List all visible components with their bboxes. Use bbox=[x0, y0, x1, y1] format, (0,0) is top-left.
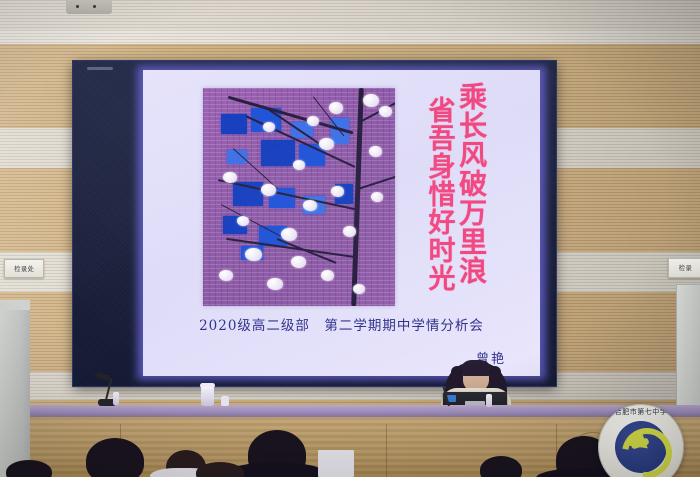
slide-photo-magnolia bbox=[203, 88, 395, 306]
right-wall-board bbox=[676, 284, 700, 406]
desk-panel-seam bbox=[386, 424, 387, 477]
magnolia-blossom bbox=[291, 256, 306, 268]
presenter-hair-top bbox=[460, 360, 492, 376]
magnolia-blossom bbox=[329, 102, 343, 114]
couplet-right-column: 乘长风破万里浪 bbox=[457, 82, 486, 292]
magnolia-blossom bbox=[321, 270, 334, 281]
magnolia-blossom bbox=[379, 106, 392, 117]
tumbler bbox=[201, 387, 214, 406]
left-wall-pillar bbox=[0, 300, 30, 477]
magnolia-blossom bbox=[369, 146, 382, 157]
wall-sign-left: 检录处 bbox=[4, 259, 44, 278]
audience-paper bbox=[318, 450, 354, 477]
magnolia-blossom bbox=[353, 284, 365, 294]
water-bottle bbox=[486, 394, 492, 407]
audience-head bbox=[86, 438, 144, 477]
window-pane bbox=[221, 114, 247, 134]
wall-sign-left-label: 检录处 bbox=[14, 264, 34, 273]
screen-top-marking bbox=[87, 67, 113, 70]
window-pane bbox=[261, 140, 295, 166]
magnolia-blossom bbox=[307, 116, 319, 126]
magnolia-blossom bbox=[281, 228, 297, 241]
magnolia-blossom bbox=[343, 226, 356, 237]
wall-sign-right: 检录 bbox=[668, 258, 700, 278]
screenshot-root: 检录处 检录 bbox=[0, 0, 700, 477]
wall-sign-right-label: 检录 bbox=[678, 264, 692, 273]
magnolia-blossom bbox=[303, 200, 317, 211]
left-wall-pillar-cap bbox=[0, 300, 30, 310]
small-cup bbox=[221, 396, 229, 406]
slide-subtitle: 2020级高二级部 第二学期期中学情分析会 bbox=[143, 314, 540, 334]
magnolia-blossom bbox=[331, 186, 344, 197]
emblem-name-cn: 合肥市第七中学 bbox=[598, 407, 684, 417]
projected-slide: 省吾身惜好时光 乘长风破万里浪 2020级高二级部 第二学期期中学情分析会 曾艳 bbox=[143, 70, 540, 376]
school-emblem: 合肥市第七中学 HEFEI NO.7 HIGH SCHOOL bbox=[598, 404, 684, 477]
magnolia-blossom bbox=[319, 138, 334, 150]
magnolia-blossom bbox=[263, 122, 275, 132]
magnolia-blossom bbox=[245, 248, 262, 261]
audience-head bbox=[480, 456, 522, 477]
couplet-left-column: 省吾身惜好时光 bbox=[425, 96, 453, 292]
magnolia-blossom bbox=[371, 192, 383, 202]
magnolia-blossom bbox=[293, 160, 305, 170]
magnolia-blossom bbox=[237, 216, 249, 226]
ceiling-bracket bbox=[66, 0, 112, 14]
audience-head bbox=[196, 462, 244, 477]
magnolia-blossom bbox=[261, 184, 276, 196]
magnolia-blossom bbox=[223, 172, 237, 183]
audience-head bbox=[6, 460, 52, 477]
magnolia-blossom bbox=[267, 278, 283, 290]
water-bottle bbox=[113, 392, 119, 405]
magnolia-blossom bbox=[219, 270, 233, 281]
magnolia-blossom bbox=[363, 94, 379, 107]
slide-couplet: 省吾身惜好时光 乘长风破万里浪 bbox=[425, 82, 485, 292]
